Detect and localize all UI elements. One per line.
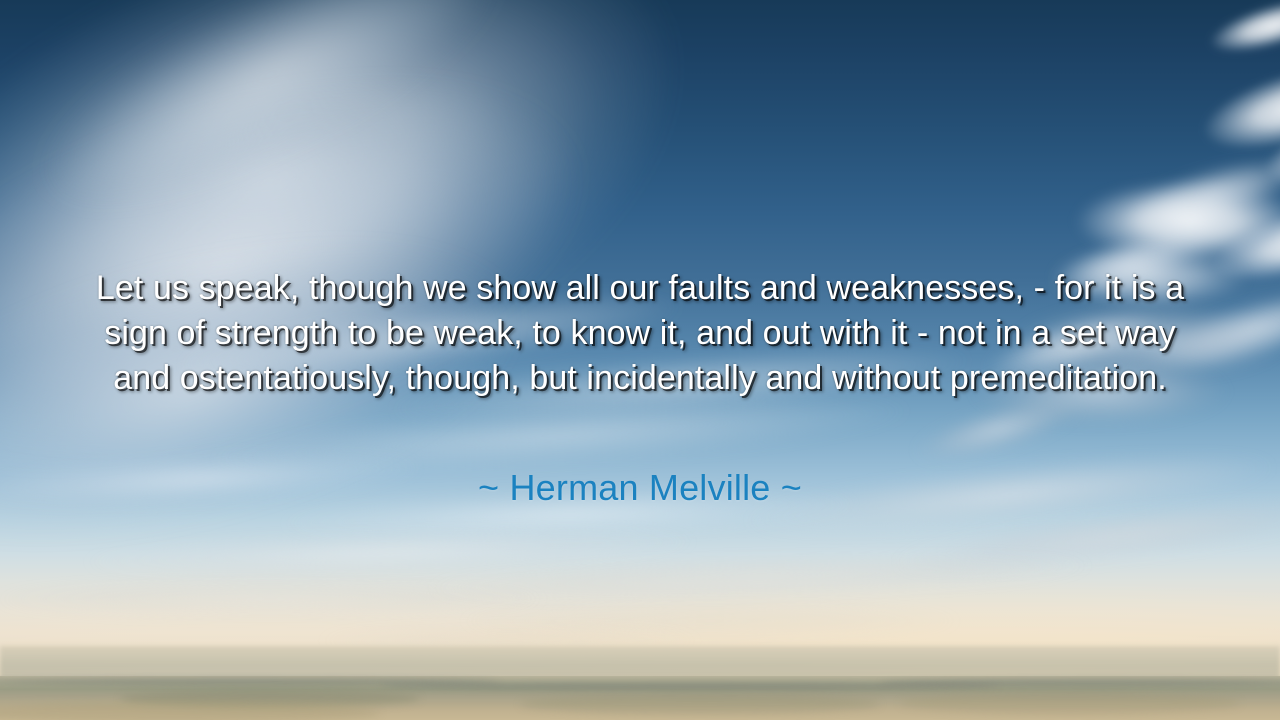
quote-card: Let us speak, though we show all our fau… (0, 0, 1280, 720)
text-overlay: Let us speak, though we show all our fau… (0, 0, 1280, 720)
quote-text: Let us speak, though we show all our fau… (85, 266, 1195, 401)
quote-attribution: ~ Herman Melville ~ (190, 466, 1090, 510)
